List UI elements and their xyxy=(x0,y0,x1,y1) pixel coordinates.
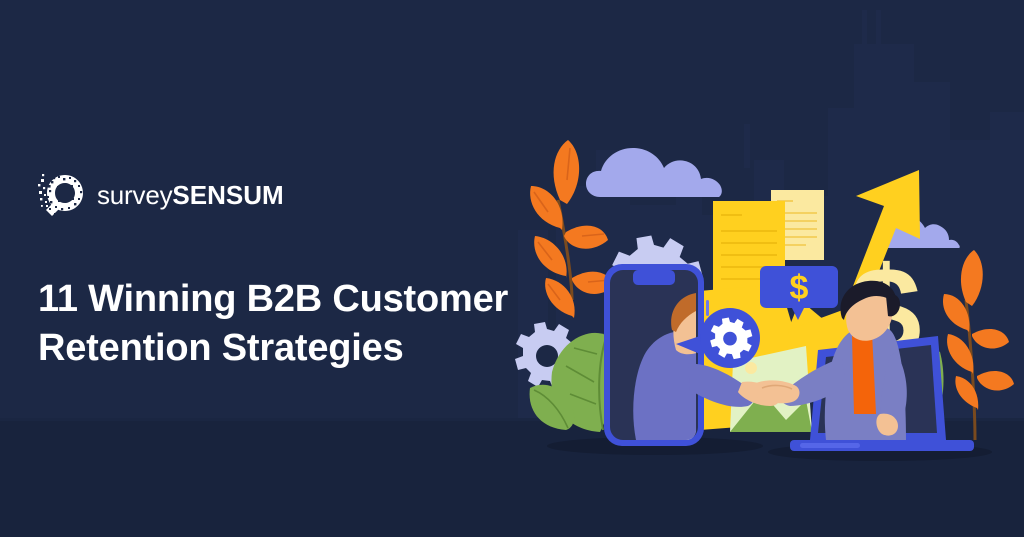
page-title-line-1: 11 Winning B2B Customer xyxy=(38,275,558,324)
cloud-large xyxy=(586,148,722,197)
illustration-artwork: $ xyxy=(0,0,1024,537)
dollar-glyph: $ xyxy=(790,269,809,307)
brand-word-light: survey xyxy=(97,180,172,210)
brand-wordmark: surveySENSUM xyxy=(97,182,284,208)
brand-logo[interactable]: surveySENSUM xyxy=(38,172,284,218)
pixelated-magnifier-icon xyxy=(38,172,88,218)
page-title-line-2: Retention Strategies xyxy=(38,324,558,373)
plant-orange-right xyxy=(943,250,1014,440)
brand-word-bold: SENSUM xyxy=(172,180,283,210)
page-title: 11 Winning B2B Customer Retention Strate… xyxy=(38,275,558,372)
blog-hero-banner: $ xyxy=(0,0,1024,537)
